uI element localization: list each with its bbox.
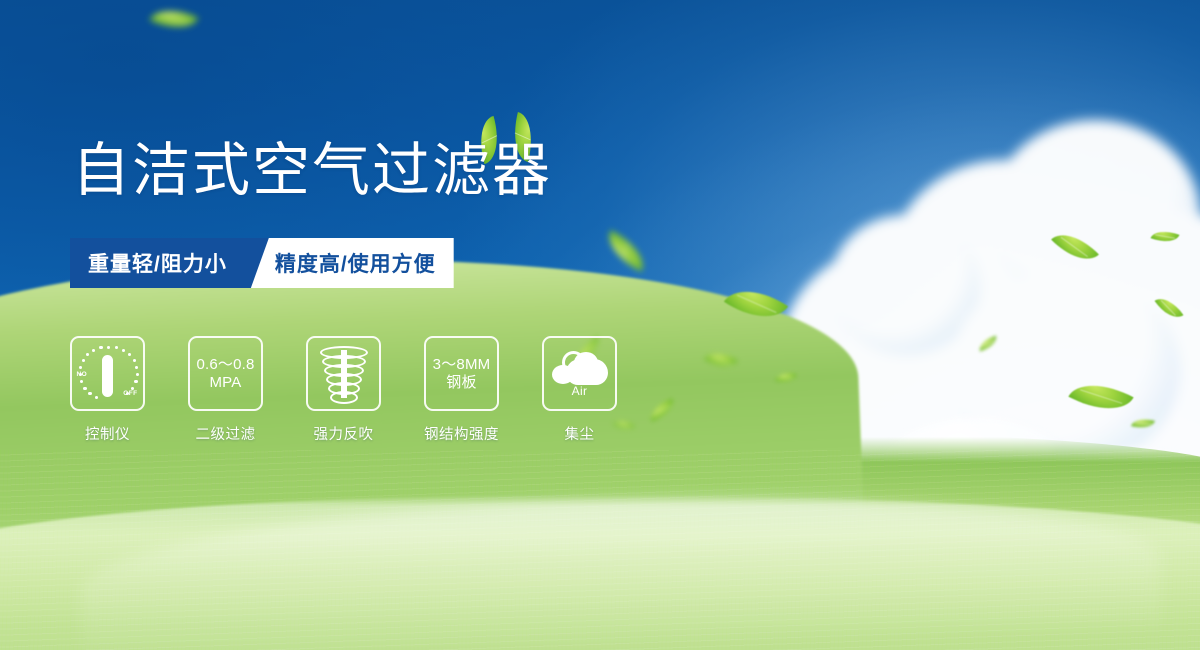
page-title: 自洁式空气过滤器 — [72, 142, 552, 200]
feature-label: 钢结构强度 — [424, 423, 499, 444]
feature-icon-box: 0.6～0.8 MPA — [188, 336, 263, 411]
feature-item-secondary-filter[interactable]: 0.6～0.8 MPA 二级过滤 — [188, 336, 263, 444]
feature-list: NO OFF 控制仪 0.6～0.8 MPA 二级过滤 — [70, 336, 617, 444]
cloud-air-icon — [552, 351, 608, 385]
air-label: Air — [572, 384, 588, 398]
subtitle-right-label: 精度高/使用方便 — [247, 238, 454, 288]
feature-label: 二级过滤 — [196, 423, 256, 444]
subtitle-left-label: 重量轻/阻力小 — [70, 238, 247, 288]
steel-plate-text-icon: 3～8MM 钢板 — [433, 356, 491, 391]
feature-icon-box: NO OFF — [70, 336, 145, 411]
feature-icon-box: 3～8MM 钢板 — [424, 336, 499, 411]
feature-icon-box — [306, 336, 381, 411]
gauge-needle-icon — [102, 355, 113, 397]
feature-item-backflush[interactable]: 强力反吹 — [306, 336, 381, 444]
feature-item-steel-strength[interactable]: 3～8MM 钢板 钢结构强度 — [424, 336, 499, 444]
coil-icon — [319, 346, 369, 402]
gauge-no-label: NO — [77, 371, 88, 378]
subtitle-banner: 重量轻/阻力小 精度高/使用方便 — [70, 238, 454, 288]
grass-field — [0, 430, 1200, 650]
feature-item-dust-collection[interactable]: Air 集尘 — [542, 336, 617, 444]
feature-label: 控制仪 — [85, 423, 130, 444]
feature-label: 集尘 — [565, 423, 595, 444]
grass-texture — [0, 450, 1200, 650]
hero-banner: 自洁式空气过滤器 重量轻/阻力小 精度高/使用方便 — [0, 0, 1200, 650]
gauge-icon: NO OFF — [77, 343, 139, 405]
gauge-off-label: OFF — [123, 390, 137, 397]
feature-icon-box: Air — [542, 336, 617, 411]
feature-label: 强力反吹 — [314, 423, 374, 444]
pressure-text-icon: 0.6～0.8 MPA — [196, 356, 254, 391]
feature-item-control-panel[interactable]: NO OFF 控制仪 — [70, 336, 145, 444]
